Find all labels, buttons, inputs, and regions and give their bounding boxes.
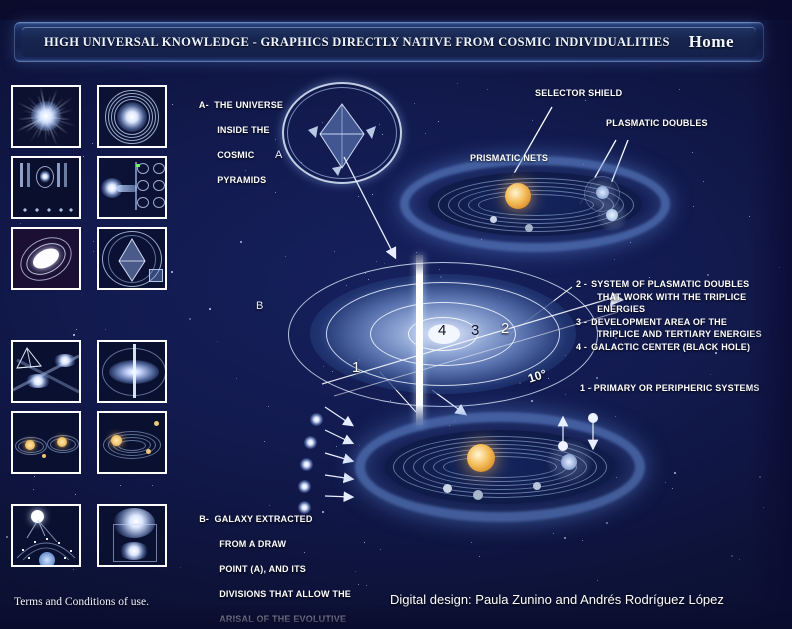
thumbnail-twin-solar-systems[interactable]: [11, 411, 81, 474]
legend-3-num: 3 -: [576, 316, 587, 341]
galactic-axis: [416, 255, 423, 425]
thumbnail-concentric-rings-sphere[interactable]: [97, 85, 167, 148]
solar-system-bottom: [355, 412, 645, 522]
legend-primary: 1 - PRIMARY OR PERIPHERIC SYSTEMS: [580, 382, 760, 395]
thumbnail-energy-columns-glyphs[interactable]: [11, 156, 81, 219]
disc-number-1: 1: [352, 359, 360, 376]
marker-b: B: [256, 300, 263, 312]
legend-2-line-3: ENERGIES: [591, 303, 749, 316]
thumbnail-galaxy-with-axis-sphere[interactable]: [97, 340, 167, 403]
marker-a: A: [275, 149, 282, 161]
solar-system-top: [400, 156, 670, 252]
page-title: HIGH UNIVERSAL KNOWLEDGE - GRAPHICS DIRE…: [44, 35, 670, 50]
thumbnail-pyramid-and-galaxies-grid[interactable]: [11, 340, 81, 403]
bottom-edge-band: [0, 605, 792, 629]
thumbnail-elliptical-galaxy-contours[interactable]: [11, 227, 81, 290]
header-inner: HIGH UNIVERSAL KNOWLEDGE - GRAPHICS DIRE…: [22, 27, 756, 57]
thumbnail-network-dome-over-earth[interactable]: [11, 504, 81, 567]
home-link[interactable]: Home: [685, 32, 738, 52]
descending-dot-chain: [325, 407, 352, 497]
section-a-text: A- THE UNIVERSE INSIDE THE COSMIC PYRAMI…: [183, 86, 283, 199]
legend-2-num: 2 -: [576, 278, 587, 316]
legend-4-line-1: GALACTIC CENTER (BLACK HOLE): [591, 341, 750, 354]
section-a-line-1: THE UNIVERSE: [214, 100, 283, 110]
section-a-line-3: COSMIC: [199, 150, 254, 160]
thumbnail-octahedron-in-sphere[interactable]: [97, 227, 167, 290]
universe-sphere-a: [280, 82, 405, 187]
page-root: HIGH UNIVERSAL KNOWLEDGE - GRAPHICS DIRE…: [0, 0, 792, 629]
disc-number-2: 2: [501, 320, 509, 337]
legend-3-line-2: TRIPLICE AND TERTIARY ENERGIES: [591, 328, 762, 341]
disc-number-4: 4: [438, 322, 446, 339]
thumbnail-radiant-star-burst[interactable]: [11, 85, 81, 148]
section-b-key: B-: [199, 514, 209, 524]
legend-2-line-2: THAT WORK WITH THE TRIPLICE: [591, 291, 749, 304]
top-edge-band: [0, 0, 792, 20]
callout-plasmatic-doubles: PLASMATIC DOUBLES: [606, 117, 708, 130]
section-b-line-2: FROM A DRAW: [199, 539, 286, 549]
header-bar: HIGH UNIVERSAL KNOWLEDGE - GRAPHICS DIRE…: [14, 22, 764, 62]
disc-number-3: 3: [471, 322, 479, 339]
cosmic-diagram: 4 3 2 1 10°: [180, 72, 792, 584]
callout-selector-shield: SELECTOR SHIELD: [535, 87, 622, 100]
section-b-line-1: GALAXY EXTRACTED: [215, 514, 313, 524]
legend-3-line-1: DEVELOPMENT AREA OF THE: [591, 316, 762, 329]
section-a-key: A-: [199, 100, 209, 110]
thumbnail-spiral-galaxy-in-cylinder[interactable]: [97, 504, 167, 567]
legend-block: 2 - SYSTEM OF PLASMATIC DOUBLES THAT WOR…: [576, 278, 762, 353]
section-b-line-4: DIVISIONS THAT ALLOW THE: [199, 589, 351, 599]
galaxy-disc-b: 4 3 2 1 10°: [288, 262, 598, 407]
callout-prismatic-nets: PRISMATIC NETS: [470, 152, 548, 165]
section-a-line-4: PYRAMIDS: [199, 175, 266, 185]
section-a-line-2: INSIDE THE: [199, 125, 270, 135]
legend-4-num: 4 -: [576, 341, 587, 354]
legend-2-line-1: SYSTEM OF PLASMATIC DOUBLES: [591, 278, 749, 291]
section-b-line-3: POINT (A), AND ITS: [199, 564, 306, 574]
thumbnail-spiral-orbital-system[interactable]: [97, 411, 167, 474]
thumbnail-plasma-conduit-cells[interactable]: [97, 156, 167, 219]
